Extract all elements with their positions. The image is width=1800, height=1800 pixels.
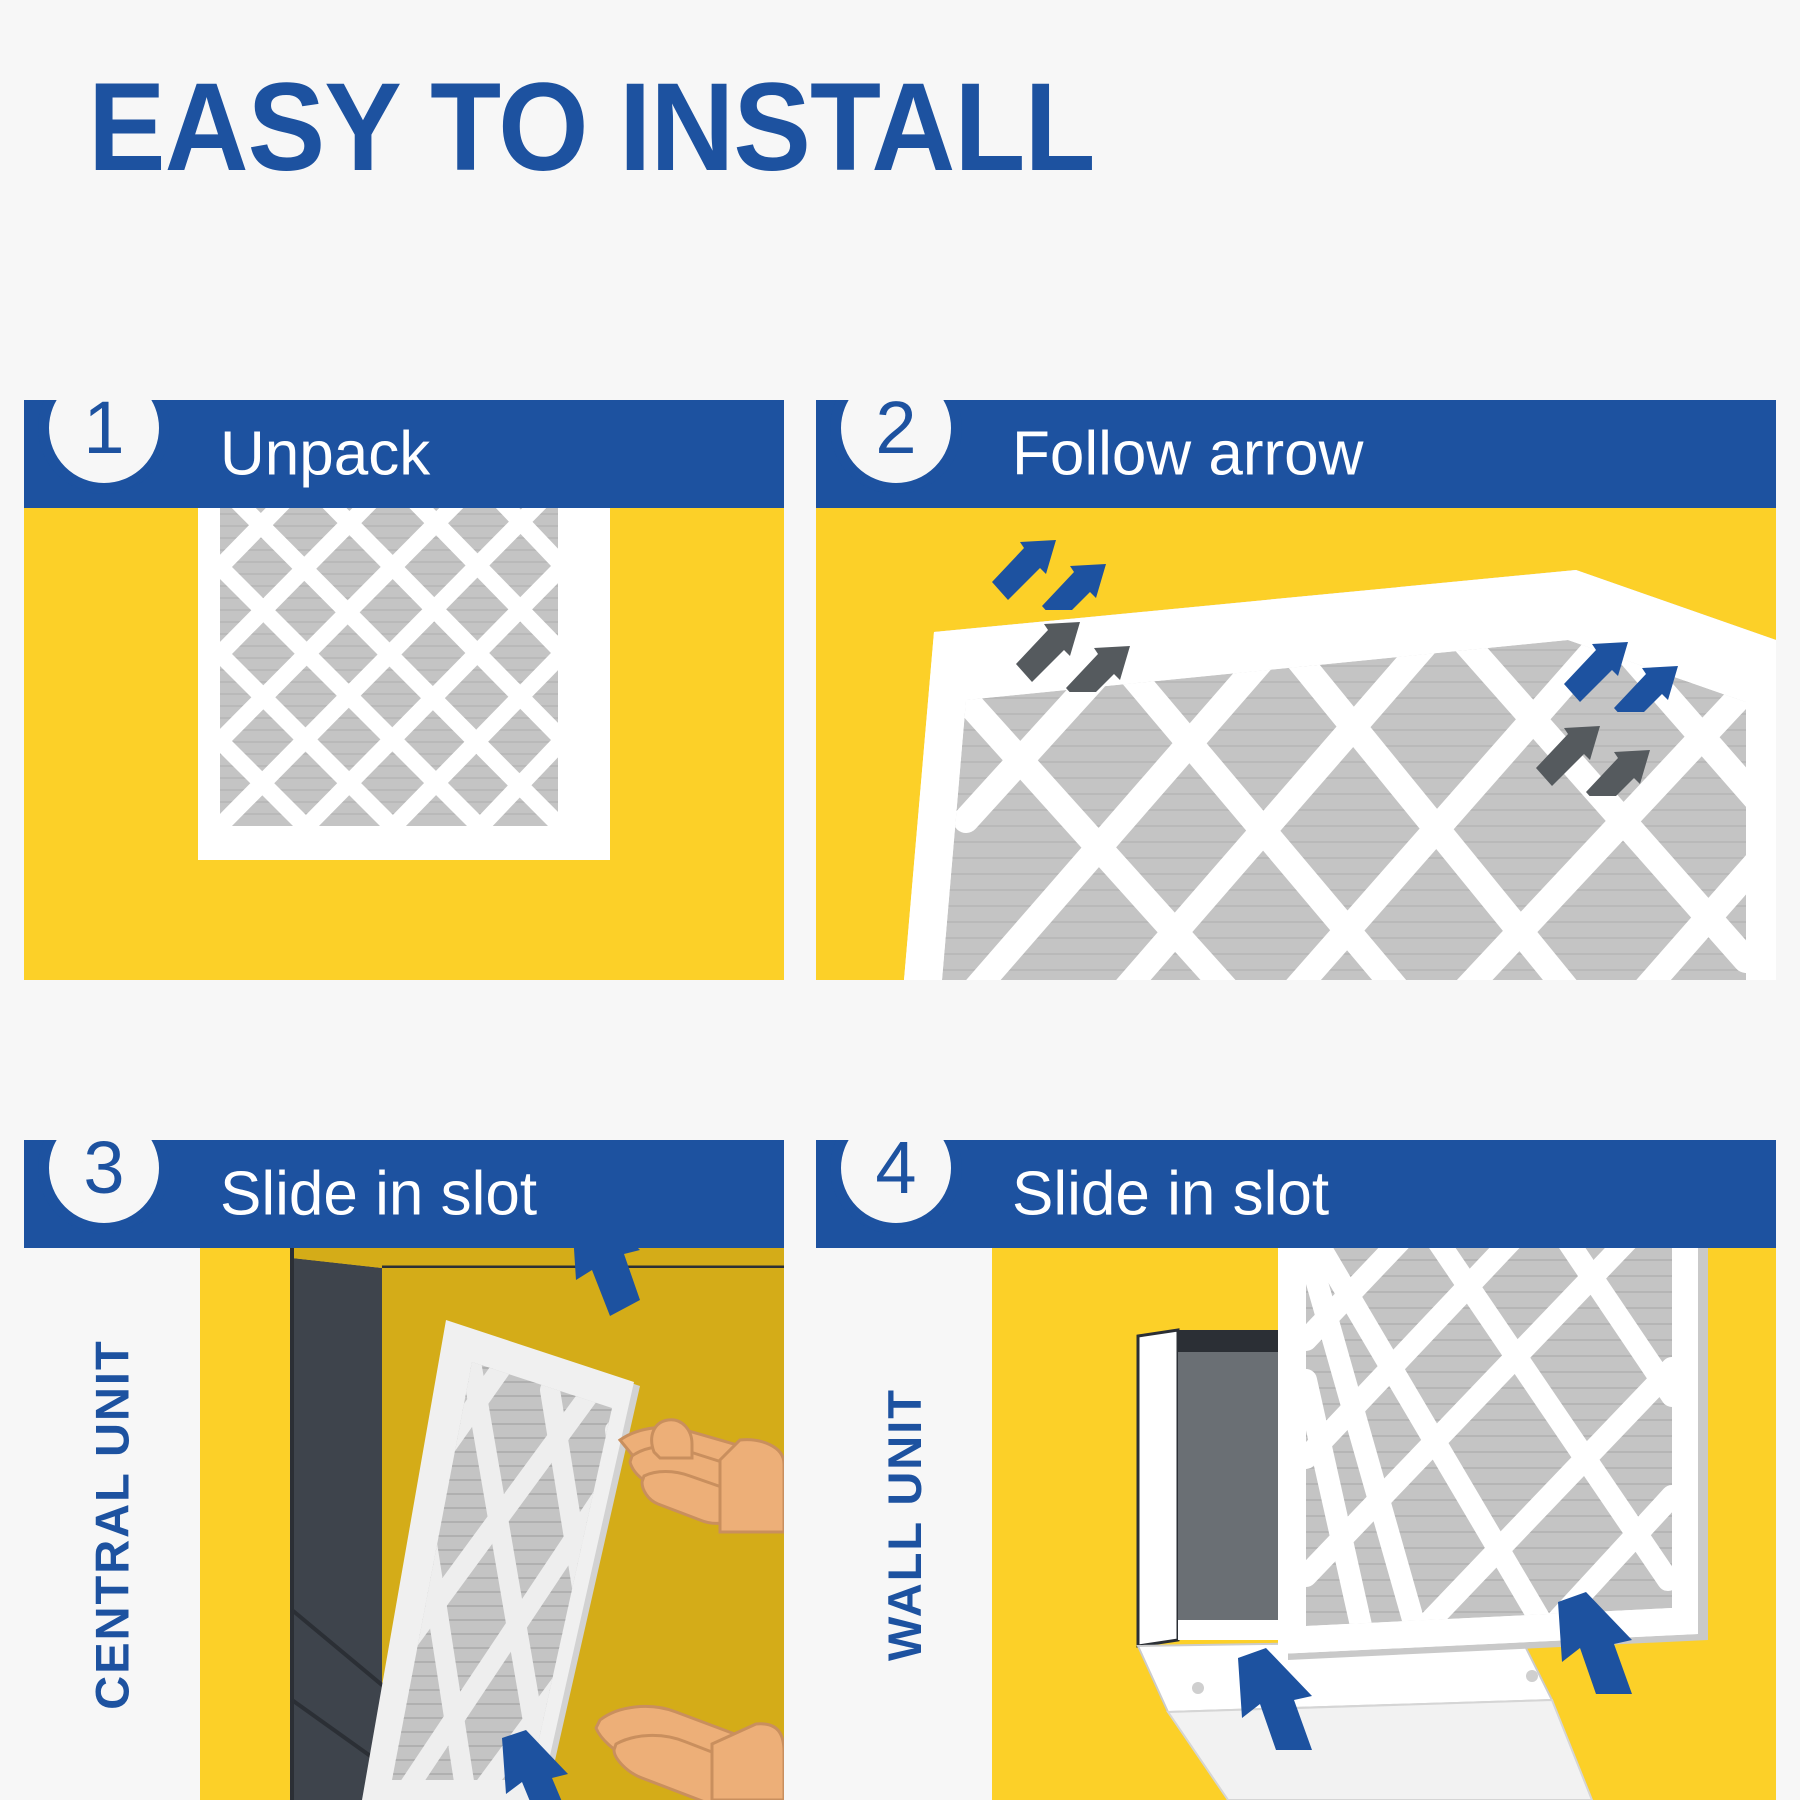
filter-panel-front-icon [190, 452, 610, 872]
step-3-side-label-wrap: CENTRAL UNIT [24, 1248, 200, 1800]
airflow-arrow-gray-left [1008, 612, 1148, 692]
step-4-side-label-wrap: WALL UNIT [816, 1248, 992, 1800]
airflow-arrow-blue-left [984, 530, 1124, 610]
insert-arrow-left [1232, 1644, 1328, 1754]
infographic-root: EASY TO INSTALL [0, 0, 1800, 1800]
step-panel-1: Unpack 1 [24, 400, 784, 980]
airflow-arrow-gray-right [1528, 716, 1668, 796]
step-3-side-label: CENTRAL UNIT [85, 1339, 140, 1709]
page-title: EASY TO INSTALL [88, 62, 1095, 193]
step-panel-2: Follow arrow 2 [816, 400, 1776, 980]
insert-arrow-bottom [496, 1726, 586, 1800]
step-3-number: 3 [83, 1140, 124, 1205]
step-panel-4: WALL UNIT Slide in slot 4 [816, 1140, 1776, 1800]
step-panel-3: CENTRAL UNIT Slide in slot 3 [24, 1140, 784, 1800]
insert-arrow-right [1552, 1588, 1648, 1698]
step-1-label: Unpack [220, 419, 430, 490]
airflow-arrow-blue-right [1556, 632, 1696, 712]
step-1-number: 1 [83, 400, 124, 465]
step-2-label: Follow arrow [1012, 419, 1363, 490]
step-2-number: 2 [875, 400, 916, 465]
step-4-side-label: WALL UNIT [877, 1388, 932, 1661]
step-4-number: 4 [875, 1140, 916, 1205]
step-3-label: Slide in slot [220, 1159, 537, 1230]
step-4-label: Slide in slot [1012, 1159, 1329, 1230]
